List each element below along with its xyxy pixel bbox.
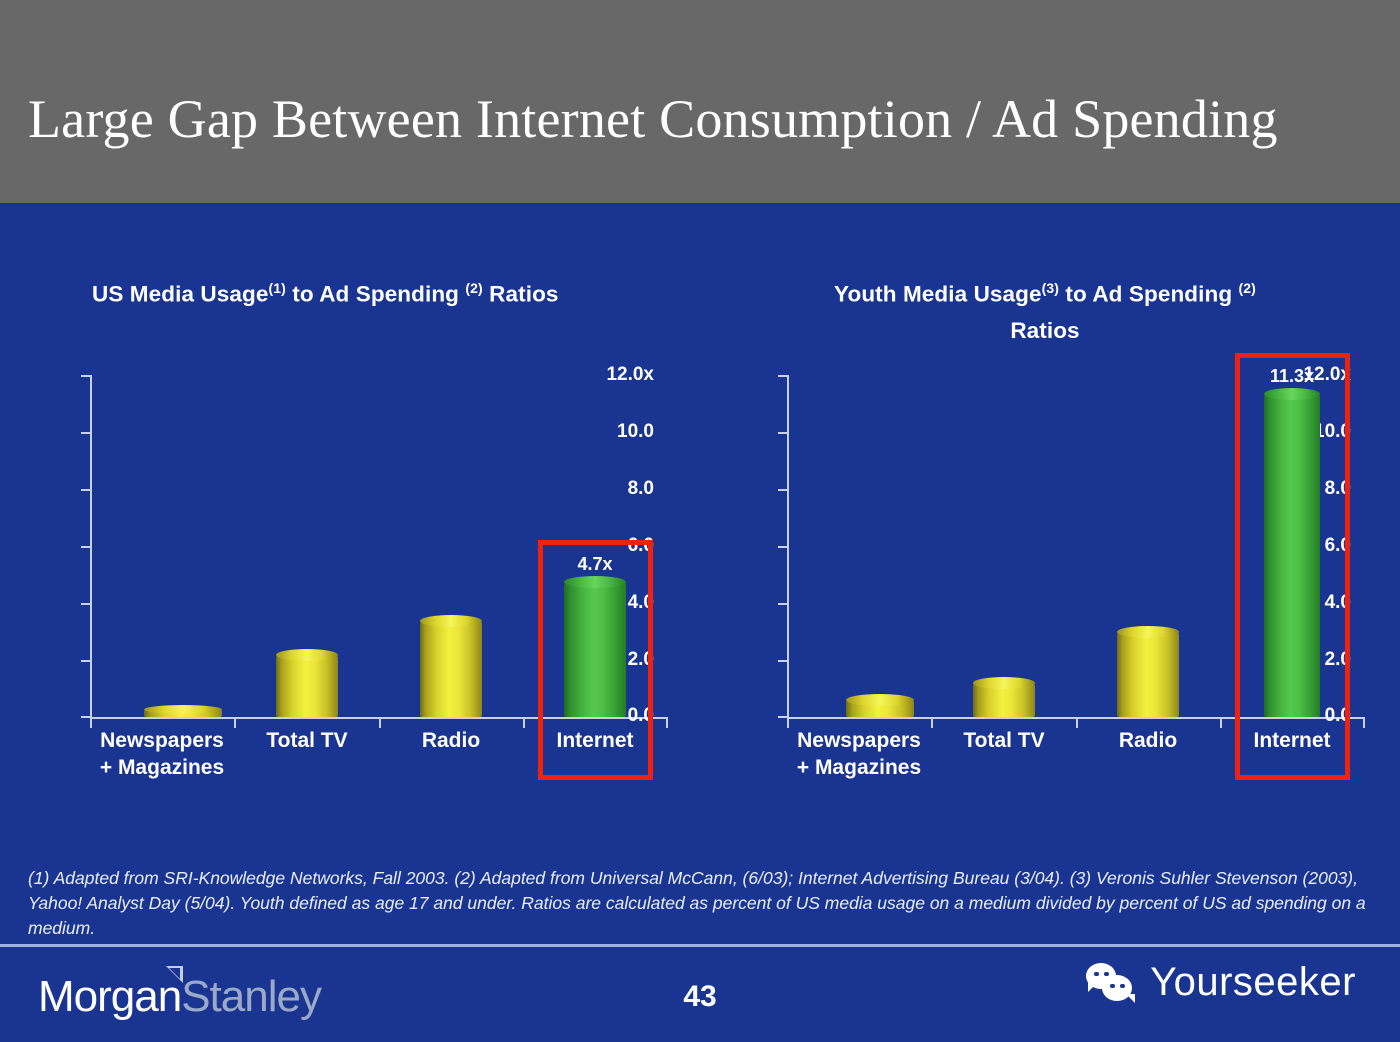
y-axis-line (90, 375, 92, 717)
x-axis-tick (787, 718, 789, 728)
bar-body (420, 622, 482, 717)
bar-cap (276, 649, 338, 661)
chart-title-footnote-ref-1: (1) (268, 280, 285, 296)
chart-title-end: Ratios (483, 282, 559, 307)
x-axis-label-line: Newspapers (100, 727, 224, 754)
x-axis-label-line: + Magazines (797, 754, 921, 781)
x-axis-tick (523, 718, 525, 728)
chart-title-end: Ratios (1010, 318, 1079, 343)
page-title: Large Gap Between Internet Consumption /… (28, 88, 1378, 150)
x-axis-label-newspapers-magazines: Newspapers + Magazines (797, 727, 921, 781)
x-axis-tick (1220, 718, 1222, 728)
wechat-eye (1104, 972, 1109, 977)
bar-cap (1117, 626, 1179, 638)
wechat-bubble-front-tail (1126, 994, 1135, 1003)
y-axis-tick (81, 432, 90, 434)
y-axis-label: 12.0x (564, 364, 654, 386)
bar-body (1117, 633, 1179, 717)
footer-divider (0, 944, 1400, 947)
chart-panel-youth-media: Youth Media Usage(3) to Ad Spending (2)R… (715, 270, 1375, 810)
x-axis-label-line: Newspapers (797, 727, 921, 754)
highlight-box-internet (1235, 353, 1350, 780)
x-axis-label-radio: Radio (422, 727, 480, 754)
bar-newspapers-magazines (846, 701, 914, 717)
highlight-box-internet (538, 540, 653, 780)
slide: Large Gap Between Internet Consumption /… (0, 0, 1400, 1042)
chart-title-footnote-ref-2: (2) (465, 280, 482, 296)
chart-title-mid: to Ad Spending (1059, 282, 1239, 307)
wechat-icon (1086, 963, 1138, 1003)
y-axis-label: 8.0 (564, 478, 654, 500)
chart-title-main: US Media Usage (92, 282, 268, 307)
bar-cap (846, 694, 914, 706)
chart-title-footnote-ref-2: (2) (1239, 280, 1256, 296)
y-axis-tick (81, 546, 90, 548)
x-axis-tick (90, 718, 92, 728)
bar-total-tv (973, 684, 1035, 717)
wechat-bubble-back-tail (1088, 983, 1097, 992)
x-axis-label-radio: Radio (1119, 727, 1177, 754)
x-axis-tick (234, 718, 236, 728)
x-axis-tick (1363, 718, 1365, 728)
x-axis-tick (1076, 718, 1078, 728)
morgan-stanley-triangle-inner-icon (169, 968, 180, 979)
bar-cap (144, 705, 222, 714)
bar-newspapers-magazines (144, 710, 222, 717)
y-axis-tick (81, 660, 90, 662)
y-axis-line (787, 375, 789, 717)
bar-radio (1117, 633, 1179, 717)
chart-panel-us-media: US Media Usage(1) to Ad Spending (2) Rat… (20, 270, 680, 810)
y-axis-tick (778, 375, 787, 377)
y-axis-tick (778, 603, 787, 605)
plot-area-us-media: 12.0x 10.0 8.0 6.0 4.0 2.0 0.0 (90, 375, 668, 717)
x-axis-label-newspapers-magazines: Newspapers + Magazines (100, 727, 224, 781)
bar-cap (420, 615, 482, 627)
y-axis-tick (778, 432, 787, 434)
plot-area-youth-media: 12.0x 10.0 8.0 6.0 4.0 2.0 0.0 (787, 375, 1365, 717)
footnote-text: (1) Adapted from SRI-Knowledge Networks,… (28, 866, 1373, 941)
chart-title-us-media: US Media Usage(1) to Ad Spending (2) Rat… (20, 270, 680, 313)
y-axis-label: 10.0 (564, 421, 654, 443)
x-axis-tick (931, 718, 933, 728)
x-axis-label-total-tv: Total TV (266, 727, 347, 754)
chart-title-main: Youth Media Usage (834, 282, 1042, 307)
x-axis-label-total-tv: Total TV (963, 727, 1044, 754)
x-axis-tick (379, 718, 381, 728)
chart-title-mid: to Ad Spending (286, 282, 466, 307)
y-axis-tick (81, 489, 90, 491)
bar-radio (420, 622, 482, 717)
wechat-eye (1094, 972, 1099, 977)
x-axis-label-line: + Magazines (100, 754, 224, 781)
wechat-eye (1120, 984, 1125, 989)
y-axis-tick (778, 660, 787, 662)
brand-name: Yourseeker (1150, 960, 1356, 1005)
bar-cap (973, 677, 1035, 689)
y-axis-tick (81, 375, 90, 377)
brand-watermark: Yourseeker (1086, 960, 1356, 1005)
bar-total-tv (276, 656, 338, 717)
y-axis-tick (778, 489, 787, 491)
y-axis-tick (778, 546, 787, 548)
chart-title-youth-media: Youth Media Usage(3) to Ad Spending (2)R… (715, 270, 1375, 349)
y-axis-tick (81, 716, 90, 718)
slide-header: Large Gap Between Internet Consumption /… (0, 0, 1400, 203)
y-axis-tick (81, 603, 90, 605)
chart-title-footnote-ref-3: (3) (1042, 280, 1059, 296)
x-axis-tick (666, 718, 668, 728)
wechat-eye (1110, 984, 1115, 989)
y-axis-tick (778, 716, 787, 718)
bar-body (276, 656, 338, 717)
